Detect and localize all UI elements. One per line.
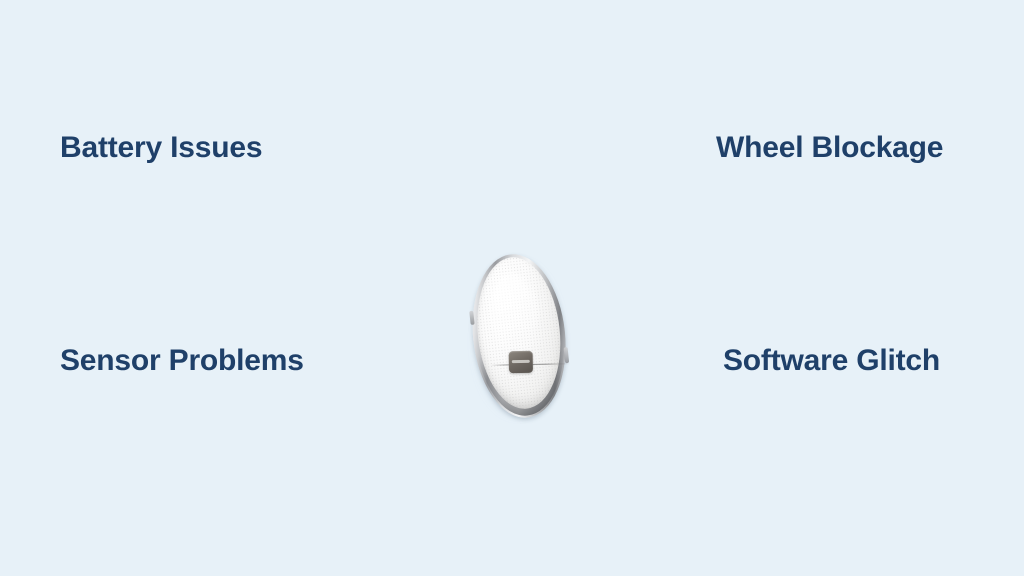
vacuum-control-pad-slot (512, 360, 530, 363)
vacuum-control-pad (509, 351, 533, 373)
label-wheel-blockage: Wheel Blockage (716, 131, 943, 165)
label-software-glitch: Software Glitch (723, 344, 940, 378)
robot-vacuum-image (470, 248, 568, 422)
vacuum-side-notch-right (564, 347, 570, 363)
slide-canvas: Battery Issues Wheel Blockage Sensor Pro… (0, 0, 1024, 576)
label-battery-issues: Battery Issues (60, 131, 262, 165)
product-body-wrapper (461, 243, 577, 426)
label-sensor-problems: Sensor Problems (60, 344, 304, 378)
